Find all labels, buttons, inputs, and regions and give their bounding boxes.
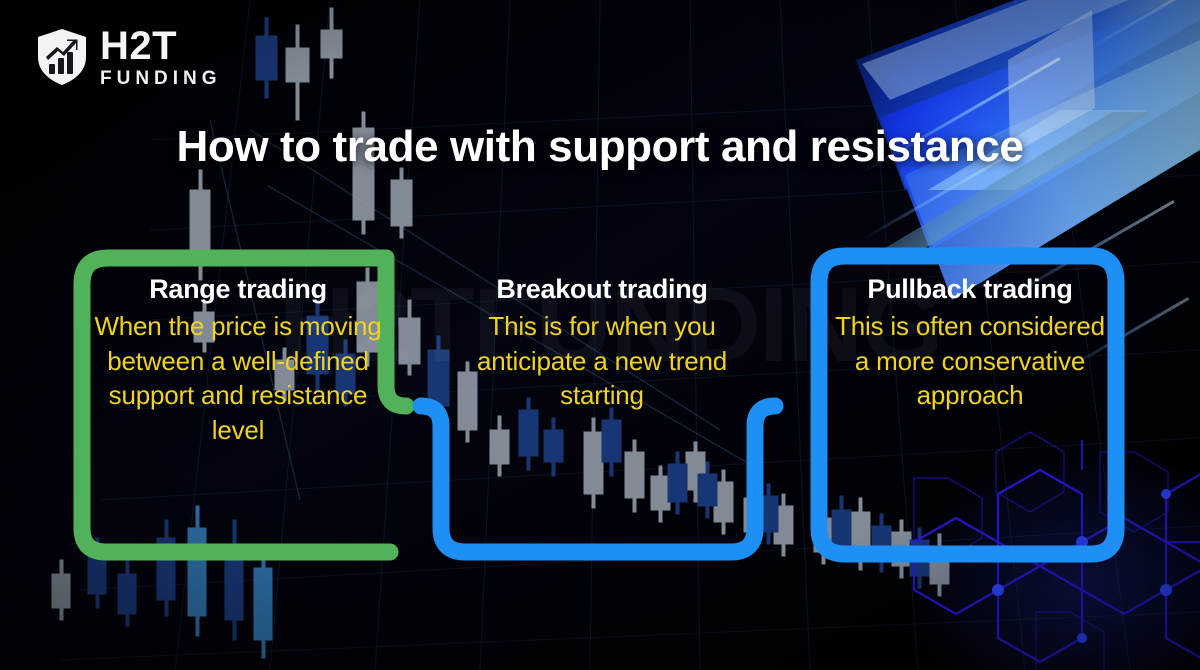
card-range-trading[interactable]: Range trading When the price is moving b…	[68, 246, 408, 564]
card-content: Pullback trading This is often considere…	[827, 274, 1113, 413]
card-content: Range trading When the price is moving b…	[94, 274, 382, 447]
page-title: How to trade with support and resistance	[0, 122, 1200, 172]
card-breakout-trading[interactable]: Breakout trading This is for when you an…	[437, 246, 767, 564]
brand-logo: H2T FUNDING	[36, 26, 222, 88]
cards-container: Range trading When the price is moving b…	[0, 0, 1200, 670]
card-body-text: This is often considered a more conserva…	[827, 309, 1113, 413]
brand-subtitle: FUNDING	[100, 69, 222, 88]
shield-chart-icon	[36, 28, 88, 86]
card-content: Breakout trading This is for when you an…	[457, 274, 747, 413]
brand-name: H2T	[100, 26, 222, 66]
card-body-text: This is for when you anticipate a new tr…	[457, 309, 747, 413]
card-title: Breakout trading	[496, 274, 707, 305]
infographic-canvas: H2TFUNDING H2T FUNDING How to trade with…	[0, 0, 1200, 670]
card-title: Pullback trading	[867, 274, 1072, 305]
card-body-text: When the price is moving between a well-…	[94, 309, 382, 447]
card-title: Range trading	[149, 274, 327, 305]
card-pullback-trading[interactable]: Pullback trading This is often considere…	[805, 244, 1130, 566]
